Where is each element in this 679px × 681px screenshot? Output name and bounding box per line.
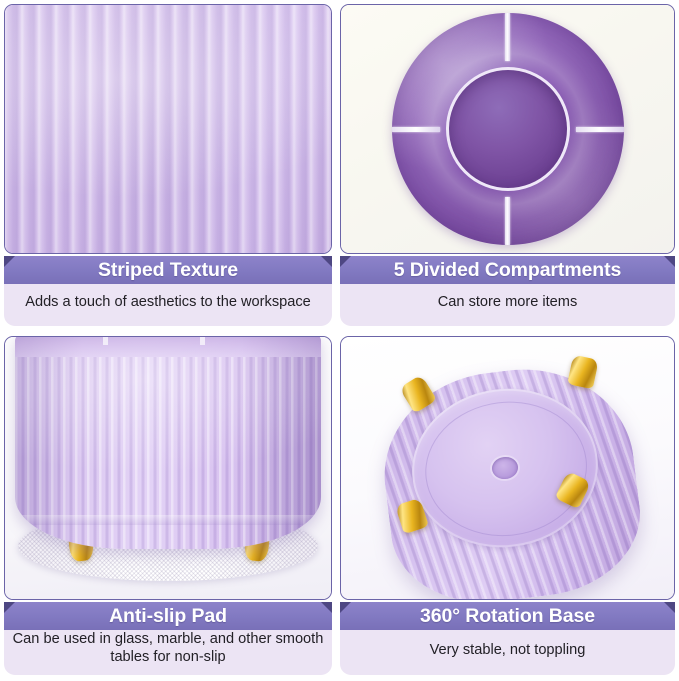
feature-card-divided-compartments: 5 Divided Compartments Can store more it… [336,0,679,332]
feature-caption-panel: Very stable, not toppling [340,630,675,675]
feature-caption-text: Can be used in glass, marble, and other … [12,630,324,667]
top-down-compartments-photo [340,4,675,254]
organizer-on-antislip-mat-photo [4,336,332,600]
ribbon-fold-left-icon [4,602,15,613]
ribbon-fold-left-icon [4,256,15,267]
striped-texture-closeup-photo [4,4,332,254]
ribbon-band: 5 Divided Compartments [340,256,675,284]
feature-title: 5 Divided Compartments [394,259,622,282]
gold-foot-top-right [567,355,599,390]
ribbon-fold-left-icon [340,602,351,613]
card-inner: 360° Rotation Base Very stable, not topp… [340,336,675,675]
ribbon-banner: Anti-slip Pad [4,602,332,627]
feature-title: Anti-slip Pad [109,605,227,628]
ribbon-fold-right-icon [664,256,675,267]
photo-backdrop [5,337,331,599]
ribbon-banner: 360° Rotation Base [340,602,675,630]
center-compartment [446,67,570,191]
underside-rotation-base-photo [340,336,675,600]
organizer-top-view [392,13,624,245]
card-inner: Striped Texture Adds a touch of aestheti… [4,4,332,326]
feature-caption-text: Adds a touch of aesthetics to the worksp… [25,293,311,312]
feature-card-rotation-base: 360° Rotation Base Very stable, not topp… [336,332,679,681]
ribbon-banner: Striped Texture [4,256,332,284]
feature-title: 360° Rotation Base [420,605,595,628]
ribbon-fold-right-icon [664,602,675,613]
ribbon-band: Anti-slip Pad [4,602,332,630]
compartment-divider-right [576,127,624,132]
compartment-divider-left [392,127,440,132]
feature-caption-text: Can store more items [438,293,578,312]
card-inner: 5 Divided Compartments Can store more it… [340,4,675,326]
ribbon-band: Striped Texture [4,256,332,284]
compartment-divider-top [505,13,510,61]
photo-backdrop [341,337,674,599]
card-inner: Anti-slip Pad Can be used in glass, marb… [4,336,332,675]
ribbon-banner: 5 Divided Compartments [340,256,675,284]
feature-caption-text: Very stable, not toppling [430,641,586,660]
feature-title: Striped Texture [98,259,238,282]
product-feature-infographic: Striped Texture Adds a touch of aestheti… [0,0,679,681]
photo-backdrop [341,5,674,253]
ribbon-band: 360° Rotation Base [340,602,675,630]
surface-sheen-overlay [5,5,331,253]
compartment-divider-bottom [505,197,510,245]
ribbon-fold-right-icon [321,256,332,267]
feature-caption-panel: Can be used in glass, marble, and other … [4,627,332,675]
organizer-body-ribbed [15,336,321,549]
feature-card-anti-slip-pad: Anti-slip Pad Can be used in glass, marb… [0,332,336,681]
ribbon-fold-left-icon [340,256,351,267]
feature-caption-panel: Can store more items [340,284,675,326]
feature-grid: Striped Texture Adds a touch of aestheti… [0,0,679,681]
feature-card-striped-texture: Striped Texture Adds a touch of aestheti… [0,0,336,332]
ribbon-fold-right-icon [321,602,332,613]
feature-caption-panel: Adds a touch of aesthetics to the worksp… [4,284,332,326]
body-shading-overlay [15,336,321,549]
